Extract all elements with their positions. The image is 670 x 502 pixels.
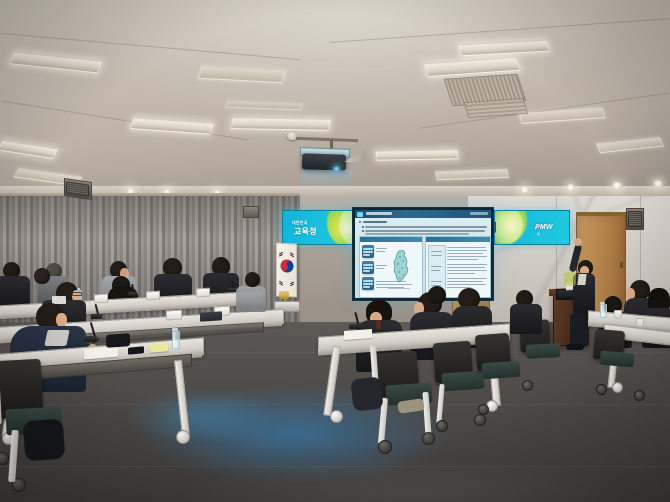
panel-right-line (447, 264, 487, 265)
panel-right-line (447, 250, 487, 251)
nameplate (166, 310, 182, 321)
taeguk-symbol-icon (278, 257, 296, 274)
podium-nameplate (556, 289, 574, 300)
chip-text (363, 270, 370, 272)
banner-display-right: PMW 회 (494, 210, 570, 245)
flag-cloth (276, 242, 297, 297)
chair-seat[interactable] (526, 343, 561, 359)
chip-text (363, 248, 373, 250)
slide-body-line (365, 233, 469, 235)
table-caster (612, 382, 623, 393)
downlight-icon (612, 182, 622, 189)
banner-display-left: 대한민국 교육청 (282, 210, 360, 245)
document-highlighted[interactable] (150, 343, 168, 353)
panel-right-line (447, 259, 478, 260)
panel-right-line (447, 270, 487, 271)
sidebox-line (431, 270, 440, 271)
microphone-base (91, 314, 102, 319)
bottle-cap (172, 328, 178, 331)
slide-panel-left (359, 236, 423, 298)
wall-speaker-grille (628, 211, 642, 227)
downlight-icon (653, 180, 663, 187)
conference-room-photo: 대한민국 교육청 PMW 회 회 (0, 0, 670, 502)
chair-caster (478, 404, 489, 415)
presenter-shoes (566, 344, 584, 350)
slide-header-right (470, 212, 488, 215)
korea-map-graphic (390, 249, 414, 285)
map-label (388, 288, 410, 289)
banner-right-subtext: 회 (537, 232, 540, 236)
microphone-base (84, 336, 97, 342)
panel-left-caption (360, 237, 422, 242)
presenter-hand (574, 238, 582, 246)
attendee-head (245, 272, 260, 287)
chair-caster (596, 384, 607, 395)
chip-label (376, 268, 384, 269)
panel-right-line (447, 253, 483, 254)
downlight-icon (566, 184, 575, 191)
bullet-icon (362, 230, 364, 232)
door-handle-icon[interactable] (620, 262, 623, 268)
chair-seat[interactable] (441, 371, 484, 392)
ceiling-light-panel (375, 149, 459, 160)
panel-right-line (447, 247, 486, 248)
slide-number-badge (357, 212, 363, 217)
floor-seam (0, 466, 670, 467)
microphone-base (128, 292, 137, 296)
chip-label (376, 248, 387, 249)
chair-caster (522, 380, 533, 391)
equipment-bag (106, 333, 130, 348)
nameplate (146, 291, 160, 301)
attendee-body (236, 286, 266, 312)
beverage-can (376, 320, 381, 329)
sidebox-line (431, 266, 442, 267)
chair-caster (378, 440, 392, 454)
chair-seat[interactable] (599, 351, 634, 368)
laptop[interactable] (200, 311, 222, 321)
chip-text (363, 254, 370, 256)
door-header (576, 212, 624, 216)
paper-cup (636, 318, 644, 327)
chip-text (363, 283, 373, 285)
water-bottle (172, 331, 180, 349)
trigram-icon (279, 254, 283, 257)
chip-text (363, 267, 373, 269)
bottle-cap (600, 302, 605, 304)
chip-text (363, 280, 373, 282)
panel-right-line (447, 281, 483, 282)
panel-right-line (447, 278, 487, 279)
korean-flag (272, 243, 300, 315)
attendee-face (56, 313, 67, 327)
presentation-slide (355, 210, 491, 298)
chair-caster (436, 420, 448, 432)
chair-caster (634, 390, 645, 401)
swoosh-white-icon (494, 210, 523, 245)
panel-right-line (447, 273, 475, 274)
floor-seam (0, 404, 670, 405)
wall-speaker-center (243, 206, 259, 218)
flag-tassel (279, 291, 289, 299)
downlight-icon (520, 186, 529, 193)
chip-text (363, 251, 373, 253)
smartphone[interactable] (128, 346, 144, 354)
chip-text (363, 286, 370, 288)
trigram-icon (290, 283, 294, 286)
table-caster (330, 410, 343, 423)
attendee-head (34, 268, 50, 284)
microphone-base (349, 324, 360, 329)
slide-chip-02 (362, 261, 374, 274)
panel-right-line (447, 256, 487, 257)
sidebox-line (431, 281, 442, 282)
panel-right-line (447, 284, 486, 285)
presenter-shirt (577, 274, 586, 285)
table-caster (176, 430, 190, 444)
bullet-icon (362, 226, 364, 228)
chair-caster (422, 432, 435, 445)
slide-section-label (363, 221, 387, 223)
chip-text (363, 264, 373, 266)
banner-left-text: 교육청 (294, 226, 317, 237)
slide-body-line (365, 230, 485, 232)
presenter-accessory (564, 272, 576, 286)
slide-chip-03 (362, 277, 374, 290)
presenter-legs (570, 313, 588, 347)
nameplate (196, 288, 210, 298)
slide-header-title (366, 212, 392, 215)
water-bottle (600, 304, 607, 318)
slide-body-line (365, 226, 487, 228)
sidebox-line (431, 255, 442, 256)
attendee-legs (23, 419, 66, 462)
attendee-shirt (44, 330, 69, 346)
paper-cup (614, 310, 622, 319)
banner-right-logo: PMW (535, 224, 553, 231)
attendee-body (510, 304, 542, 334)
ceiling-light-panel (231, 117, 331, 131)
panel-right-line (447, 267, 485, 268)
bullet-icon (359, 221, 361, 223)
eyeglasses-icon (72, 292, 82, 296)
attendee-head (428, 286, 446, 304)
attendee-legs (350, 377, 383, 412)
nameplate (94, 294, 108, 304)
chip-label (376, 265, 387, 266)
chip-label (376, 251, 385, 252)
sidebox-line (431, 251, 442, 252)
slide-chip-01 (362, 245, 374, 258)
chair-caster (474, 414, 486, 426)
panel-right-caption (426, 237, 490, 242)
projection-screen (352, 207, 494, 301)
chair-seat[interactable] (481, 361, 520, 380)
